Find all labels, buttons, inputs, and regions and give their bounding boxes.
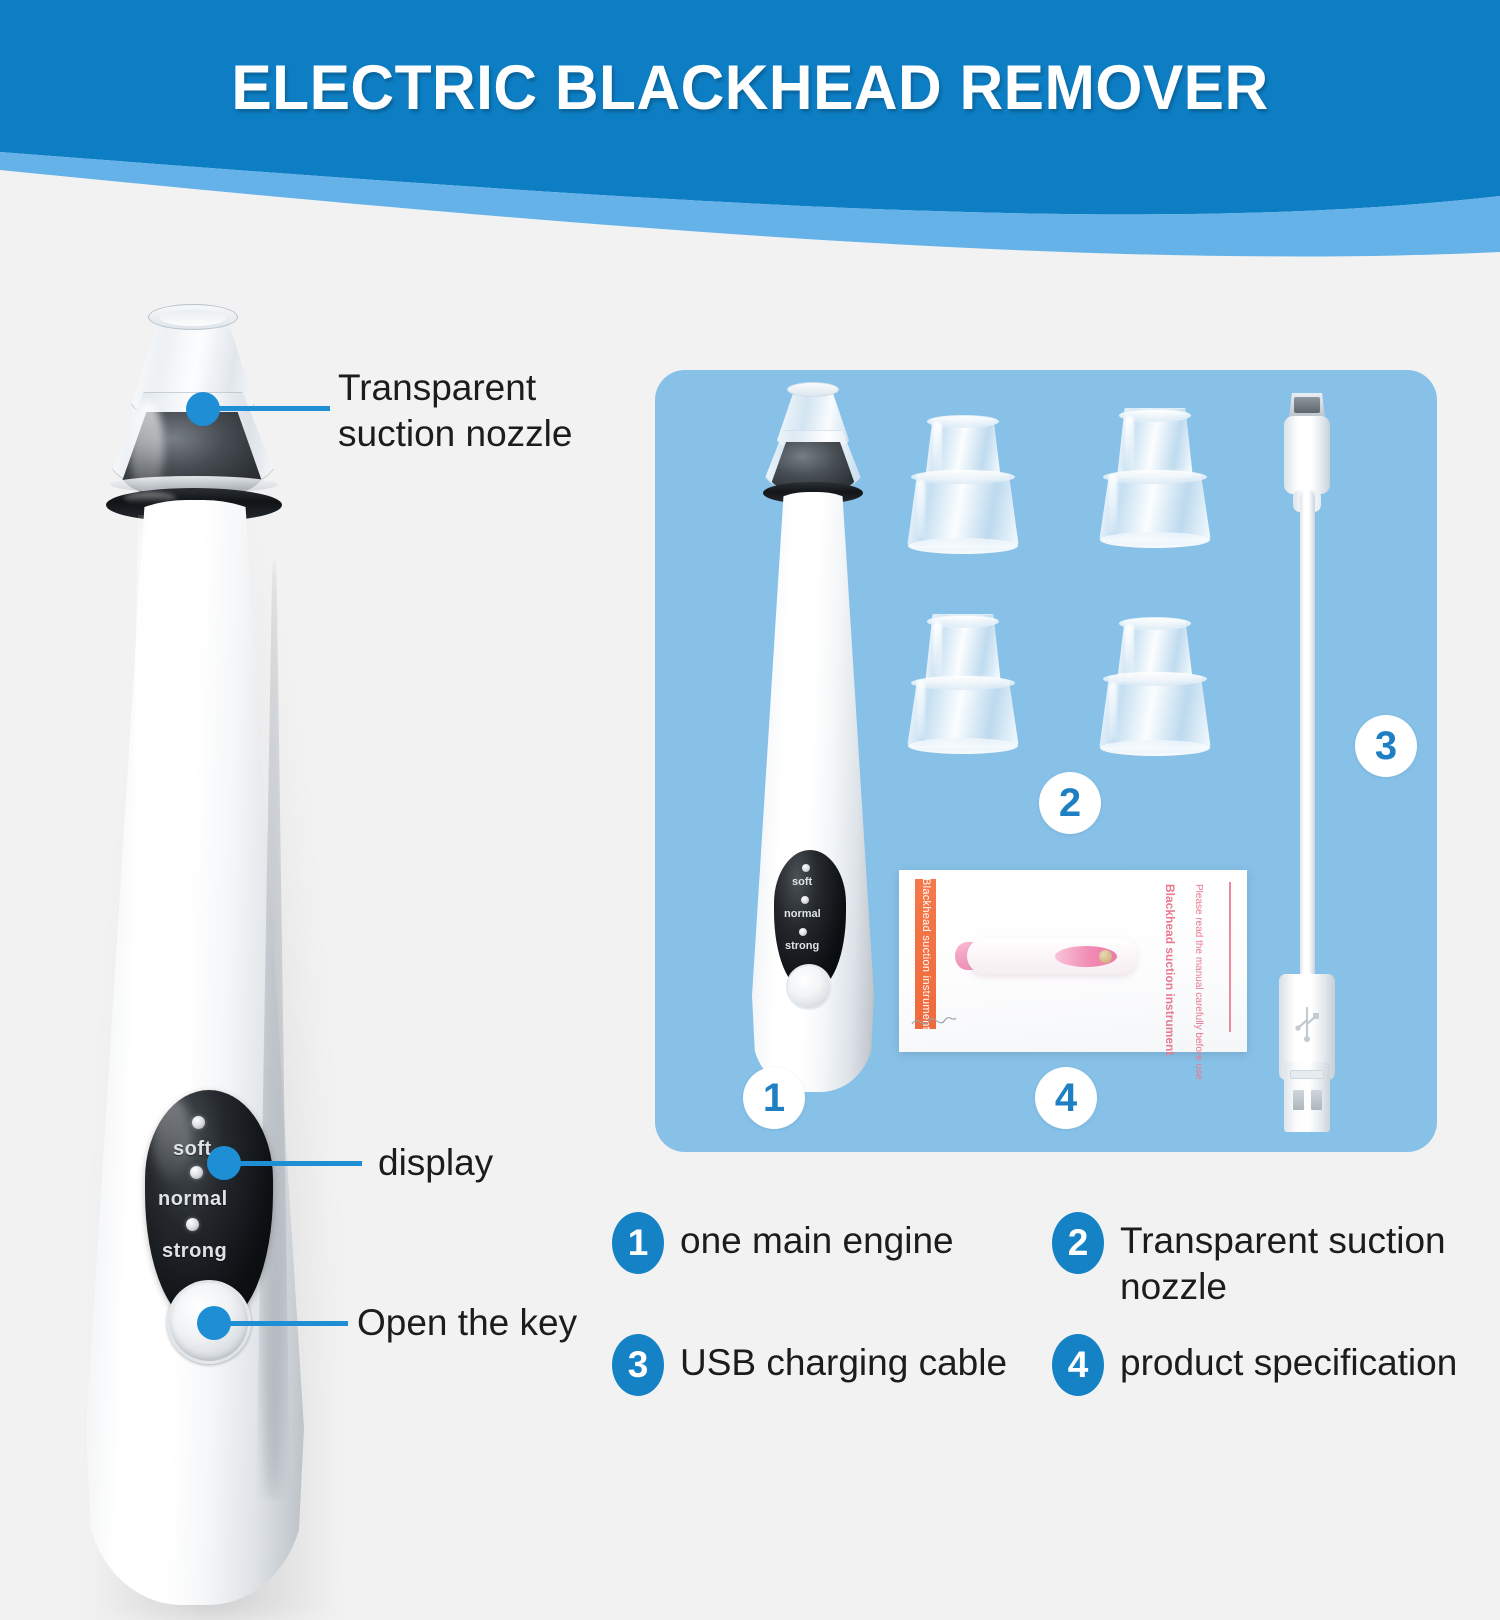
page-title: ELECTRIC BLACKHEAD REMOVER [30, 52, 1470, 124]
callout-line-nozzle [212, 406, 330, 411]
manual-subtitle-text: Please read the manual carefully before … [1193, 884, 1204, 1080]
nozzle-glint-2 [1109, 682, 1117, 740]
kit-badge-4: 4 [1035, 1067, 1097, 1129]
legend-list: 1 one main engine 2 Transparent suction … [612, 1212, 1492, 1432]
usb-charging-cable [1253, 380, 1363, 1150]
kit-led-soft [802, 864, 810, 872]
nozzle-mid-rim [911, 470, 1015, 484]
kit-badge-3: 3 [1355, 715, 1417, 777]
accessory-nozzle-4 [1095, 616, 1215, 756]
manual-rule-line [1229, 882, 1231, 1032]
legend-label-4: product specification [1120, 1334, 1457, 1386]
usb-a-pin-left [1293, 1090, 1304, 1110]
infographic-page: ELECTRIC BLACKHEAD REMOVER soft normal s… [0, 0, 1500, 1500]
kit-main-engine: soft normal strong [730, 380, 910, 1080]
usb-a-slot [1290, 1070, 1324, 1079]
usb-logo-icon [1294, 1002, 1320, 1044]
led-indicator-normal [190, 1166, 203, 1179]
legend-item-3: 3 USB charging cable [612, 1334, 1007, 1396]
nozzle-glint-2 [917, 480, 925, 538]
led-indicator-strong [186, 1218, 199, 1231]
callout-line-power [223, 1321, 348, 1326]
kit-mode-normal: normal [784, 908, 821, 920]
legend-item-4: 4 product specification [1052, 1334, 1457, 1396]
callout-label-nozzle: Transparent suction nozzle [338, 365, 572, 457]
kit-led-normal [801, 896, 809, 904]
nozzle-glint [1125, 624, 1134, 678]
callout-line-display [233, 1161, 362, 1166]
nozzle-base-rim [1100, 740, 1210, 756]
legend-label-3: USB charging cable [680, 1334, 1007, 1386]
nozzle-mid-rim [911, 676, 1015, 690]
micro-usb-shell [1284, 416, 1330, 494]
manual-squiggle-decoration [911, 1010, 957, 1032]
nozzle-mid-rim [1103, 672, 1207, 686]
legend-item-1: 1 one main engine [612, 1212, 954, 1274]
nozzle-glint-2 [917, 680, 925, 738]
nozzle-mid-rim [1103, 470, 1207, 484]
manual-title-text: Blackhead suction instrument [1163, 884, 1177, 1055]
legend-label-1: one main engine [680, 1212, 954, 1264]
manual-device-button [1099, 950, 1112, 963]
header-banner: ELECTRIC BLACKHEAD REMOVER [0, 0, 1500, 270]
mode-label-normal: normal [158, 1188, 228, 1211]
accessory-nozzle-1 [903, 414, 1023, 554]
kit-mode-strong: strong [785, 940, 819, 952]
legend-badge-4: 4 [1052, 1334, 1104, 1396]
nozzle-base-rim [908, 738, 1018, 754]
legend-item-2: 2 Transparent suction nozzle [1052, 1212, 1446, 1310]
kit-power-button [786, 964, 832, 1010]
kit-contents-box: soft normal strong [655, 370, 1437, 1152]
kit-nozzle-rim [787, 382, 839, 397]
callout-label-display: display [378, 1140, 493, 1186]
led-indicator-soft [192, 1116, 205, 1129]
kit-mode-soft: soft [792, 876, 812, 888]
manual-spine-bar: Blackhead suction instrument [915, 879, 936, 1029]
main-device-illustration: soft normal strong [70, 300, 400, 1420]
legend-badge-1: 1 [612, 1212, 664, 1274]
mode-label-soft: soft [173, 1138, 212, 1161]
product-specification-manual: Blackhead suction instrument Blackhead s… [899, 870, 1247, 1052]
nozzle-base-rim [1100, 532, 1210, 548]
kit-badge-2: 2 [1039, 772, 1101, 834]
mode-label-strong: strong [162, 1240, 227, 1263]
nozzle-glint-2 [1109, 474, 1117, 532]
nozzle-base-rim [908, 538, 1018, 554]
kit-badge-1: 1 [743, 1067, 805, 1129]
header-wave-shape [0, 0, 1500, 270]
nozzle-glint [1125, 416, 1134, 470]
legend-badge-3: 3 [612, 1334, 664, 1396]
accessory-nozzle-2 [1095, 408, 1215, 548]
kit-led-strong [799, 928, 807, 936]
legend-badge-2: 2 [1052, 1212, 1104, 1274]
nozzle-glint [933, 422, 942, 476]
legend-label-2: Transparent suction nozzle [1120, 1212, 1446, 1310]
micro-usb-tip-inner [1294, 397, 1320, 413]
accessory-nozzle-3 [903, 614, 1023, 754]
usb-a-pin-right [1311, 1090, 1322, 1110]
manual-spine-text: Blackhead suction instrument [920, 878, 932, 1030]
nozzle-top-rim-inner [160, 310, 226, 326]
nozzle-glint [933, 622, 942, 676]
callout-label-power: Open the key [357, 1300, 577, 1346]
